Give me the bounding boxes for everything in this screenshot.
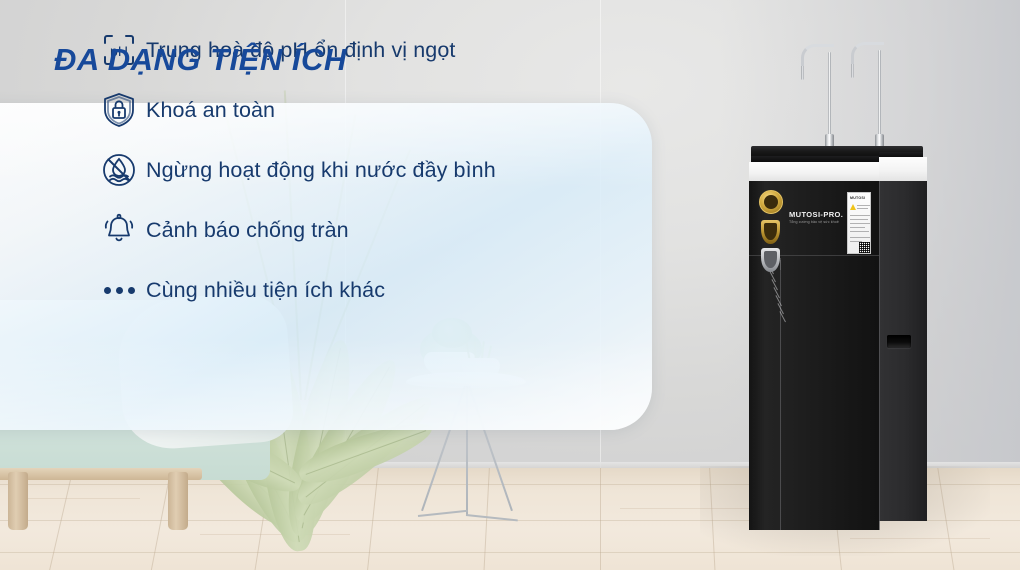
feature-label: Khoá an toàn [146, 98, 275, 123]
gold-circle-badge [759, 190, 783, 214]
feature-item-auto-stop: Ngừng hoạt động khi nước đầy bình [92, 140, 496, 200]
feature-label: Cảnh báo chống tràn [146, 218, 349, 243]
sofa-leg [8, 472, 28, 530]
ellipsis-icon [92, 287, 146, 294]
spec-label-qr-code [859, 242, 870, 253]
feature-label: Ngừng hoạt động khi nước đầy bình [146, 158, 496, 183]
cabinet-door-seam [879, 181, 880, 530]
shield-lock-icon [92, 92, 146, 128]
spec-label-sticker: MUTOSI [847, 192, 871, 254]
product-banner-scene: MUTOSI-PRO. Tổng cường bảo vệ sức khoẻ M… [0, 0, 1020, 570]
water-purifier-product: MUTOSI-PRO. Tổng cường bảo vệ sức khoẻ M… [735, 30, 955, 540]
cabinet-door-seam [780, 260, 781, 530]
brand-wordmark: MUTOSI-PRO. [789, 210, 843, 219]
feature-item-child-lock: Khoá an toàn [92, 80, 496, 140]
sofa-leg [168, 472, 188, 530]
no-water-overflow-icon [92, 152, 146, 188]
feature-label: Cùng nhiều tiện ích khác [146, 278, 385, 303]
top-white-band [749, 162, 879, 182]
feature-item-overflow-alarm: Cảnh báo chống tràn [92, 200, 496, 260]
top-white-band [879, 157, 927, 182]
page-title: ĐA DẠNG TIỆN ÍCH [54, 42, 347, 78]
bell-alert-icon [92, 212, 146, 248]
feature-item-more: Cùng nhiều tiện ích khác [92, 260, 496, 320]
warning-triangle-icon [850, 204, 856, 210]
door-handle-notch [887, 335, 911, 348]
brand-tagline: Tổng cường bảo vệ sức khoẻ [789, 220, 839, 224]
cabinet-side-panel [879, 181, 927, 521]
spec-label-heading: MUTOSI [850, 196, 865, 200]
